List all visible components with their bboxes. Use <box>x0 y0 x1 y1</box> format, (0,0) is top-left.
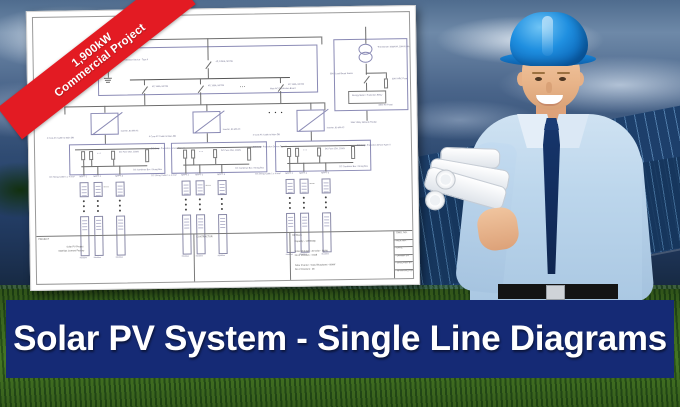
label-dc-cable-1: DC String Cable 1 x 4 mm² <box>49 176 74 179</box>
drawing-sheet: 3 Ph, 400V AC Incoming Supply Main AC Di… <box>26 5 420 291</box>
string-ellipsis-2: • • • <box>206 184 211 187</box>
engineer-photo <box>418 2 680 307</box>
feeder-breaker-1 <box>142 85 148 93</box>
label-hv-fuse: 33kV HRC Fuse <box>392 78 407 81</box>
pv-module-top-3b <box>299 179 308 194</box>
engineer-eye-left <box>535 77 542 81</box>
title-block-details-cell: DETAILS Capacity - 1,900kWp Solar Module… <box>290 231 395 280</box>
pv-module-top-1a <box>80 182 89 197</box>
dc-surge-1 <box>145 149 149 162</box>
label-mppt-3a: MPPT-1 <box>285 173 293 176</box>
engineer-belt-buckle <box>546 285 565 300</box>
label-feeder-1: 4P, 160A, MCCB <box>152 86 168 89</box>
label-ac-cable-1: 4 Core AC Cable to Main DB <box>47 137 74 140</box>
pv-module-top-1c <box>116 182 125 197</box>
dc-fuse-3a <box>287 148 291 157</box>
engineer-brow-left <box>532 72 545 74</box>
title-block-contractor-header: CONTRACTOR <box>196 236 212 239</box>
blueprint-roll-end-1 <box>424 190 445 211</box>
label-combiner-1: DC Combiner Box / String Box <box>133 169 162 172</box>
label-mppt-3c: MPPT-3 <box>321 172 329 175</box>
label-meter: Energy Meter / Protection Relay <box>352 94 382 97</box>
pv-module-top-3a <box>285 179 294 194</box>
dc-surge-2 <box>247 148 251 161</box>
dc-fuse-3c <box>317 147 321 156</box>
transformer-symbol <box>358 44 372 64</box>
inverter-2 <box>192 111 220 133</box>
inverter-1 <box>90 113 118 135</box>
title-block-project-cell: PROJECT Solar PV Project Matthias Cement… <box>36 234 195 283</box>
label-ac-cable-2: 4 Core AC Cable to Main DB <box>149 136 176 139</box>
label-combiner-2: DC Combiner Box / String Box <box>235 167 264 170</box>
engineer-nose <box>546 82 552 93</box>
main-breaker <box>206 60 212 68</box>
combiner-ellipsis-3: • • • <box>303 150 307 153</box>
label-dc-fuse-1: DC Fuse 15A, 1000V <box>119 151 139 154</box>
dc-fuse-2a <box>183 150 187 159</box>
meta-label-3: DRAWN BY <box>397 255 409 258</box>
pv-module-top-2c <box>218 180 227 195</box>
dc-fuse-3b <box>295 148 299 157</box>
label-inverter-1: Inverter, 80 kW AC <box>121 130 139 133</box>
label-mppt-3b: MPPT-2 <box>299 173 307 176</box>
title-block-contractor-cell: CONTRACTOR <box>194 233 291 282</box>
hard-hat-ridge <box>542 16 553 56</box>
string-ellipsis-1: • • • <box>104 186 109 189</box>
title-block-project-header: PROJECT <box>38 238 49 241</box>
pv-module-top-2b <box>196 180 205 195</box>
title-block-detail-4: No of Inverters : 28 <box>295 269 315 273</box>
title-banner: Solar PV System - Single Line Diagrams <box>6 300 674 378</box>
title-block-project-line2: Matthias Cement Factory <box>59 250 85 254</box>
dc-fuse-2b <box>191 149 195 158</box>
title-block-detail-2: No of Modules : 3,528 <box>295 255 318 259</box>
title-block: PROJECT Solar PV Project Matthias Cement… <box>36 230 413 284</box>
label-dc-cable-3: DC String Cable 1 x 4 mm² <box>255 173 280 176</box>
label-mppt-1b: MPPT-2 <box>93 176 101 179</box>
label-feeder-2: 4P, 160A, MCCB <box>208 85 224 88</box>
dc-surge-3 <box>351 146 355 159</box>
string-ellipsis-3: • • • <box>310 183 315 186</box>
label-mppt-2a: MPPT-1 <box>181 175 189 178</box>
dc-fuse-1c <box>111 151 115 160</box>
inverter-3 <box>296 109 324 131</box>
meta-label-0: DWG. NO. <box>396 232 407 235</box>
label-mppt-2c: MPPT-3 <box>217 174 225 177</box>
label-dc-cable-2: DC String Cable 1 x 4 mm² <box>151 175 176 178</box>
title-block-detail-0: Capacity - 1,900kWp <box>294 241 315 245</box>
meta-label-1: REV. NO. <box>396 240 406 243</box>
combiner-ellipsis-2: • • • <box>199 151 203 154</box>
feeder-breaker-2 <box>198 84 204 92</box>
feeder-ellipsis: • • • <box>240 86 245 89</box>
label-mppt-1a: MPPT-1 <box>79 176 87 179</box>
meta-label-2: DATE <box>397 247 403 250</box>
label-inverter-3: Inverter, 80 kW AC <box>327 127 345 130</box>
title-block-details-header: DETAILS <box>292 234 301 237</box>
meta-label-4: CHECKED BY <box>397 262 412 265</box>
pv-module-top-2a <box>182 181 191 196</box>
hv-load-break-switch <box>364 75 370 83</box>
label-feeder-3: 4P, 160A, MCCB <box>288 84 304 87</box>
label-utility-feeder: 33kV Utility Network Feeder <box>351 122 377 125</box>
label-mppt-2b: MPPT-2 <box>195 174 203 177</box>
label-hv-panel: 33kV HV Panel <box>378 104 392 107</box>
pv-module-top-1b <box>94 182 103 197</box>
dc-fuse-1a <box>81 151 85 160</box>
feeder-breaker-3 <box>278 83 284 91</box>
label-main-mcb: 4P, 1250A, MCCB <box>216 61 233 64</box>
label-dc-surge-3: DC Surge Protection Device Type II <box>357 144 390 147</box>
inverter-group-ellipsis: • • • <box>268 112 284 115</box>
meta-label-5: APPROVED BY <box>397 270 414 273</box>
banner-title: Solar PV System - Single Line Diagrams <box>13 319 667 359</box>
label-dc-fuse-3: DC Fuse 15A, 1000V <box>325 148 345 151</box>
label-transformer: Transformer 1600kVA, 33kV/0.4kV Dyn11 <box>377 46 414 49</box>
engineer-brow-right <box>557 72 570 74</box>
label-inverter-2: Inverter, 80 kW AC <box>223 129 241 132</box>
label-dc-fuse-2: DC Fuse 15A, 1000V <box>221 150 241 153</box>
label-hv-switch: 33kV Load Break Switch <box>330 73 353 76</box>
label-mppt-1c: MPPT-3 <box>115 176 123 179</box>
combiner-ellipsis-1: • • • <box>97 153 101 156</box>
dc-fuse-1b <box>89 151 93 160</box>
hv-fuse <box>384 78 388 88</box>
label-combiner-3: DC Combiner Box / String Box <box>339 166 368 169</box>
title-block-detail-3: Solar Inverter : Sanu Bluoplanet - 80kW <box>295 264 336 268</box>
thumbnail-canvas: 3 Ph, 400V AC Incoming Supply Main AC Di… <box>0 0 680 407</box>
pv-module-top-3c <box>321 178 330 193</box>
dc-fuse-2c <box>213 149 217 158</box>
label-ac-cable-3: 4 Core AC Cable to Main DB <box>253 134 280 137</box>
engineer-eye-right <box>559 77 566 81</box>
